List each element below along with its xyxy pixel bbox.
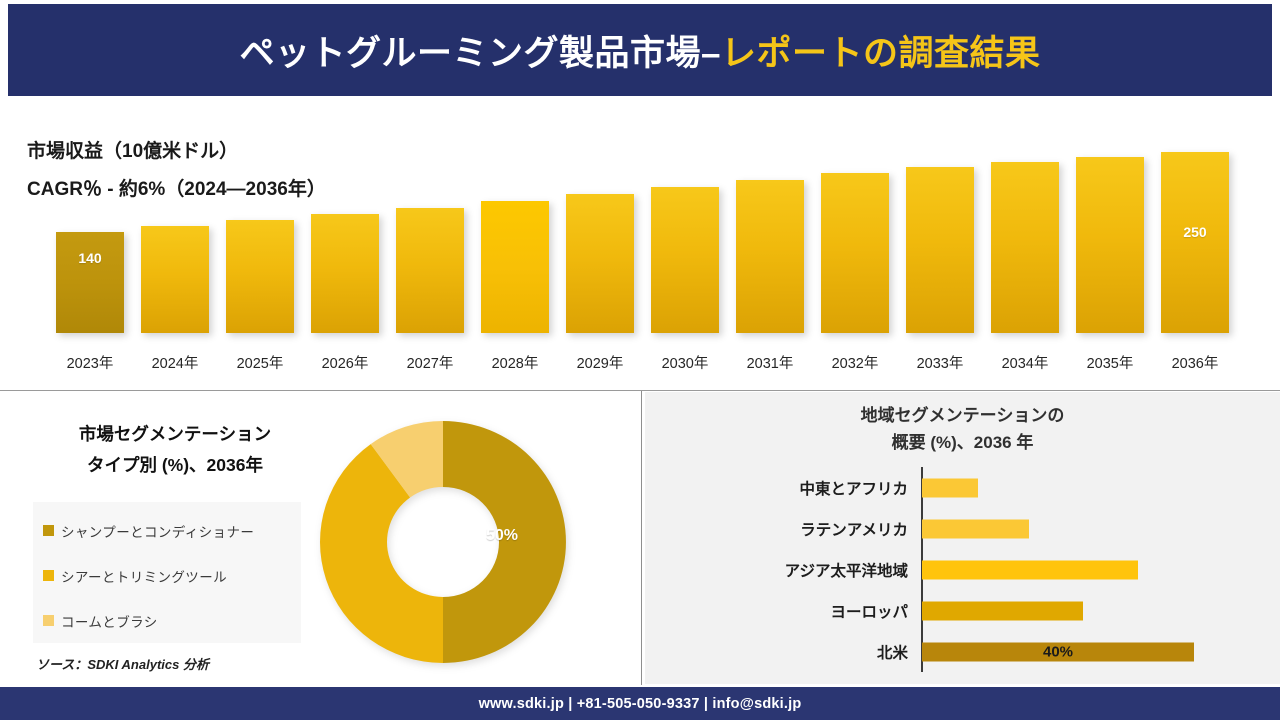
region-row: ラテンアメリカ (645, 508, 1280, 549)
revenue-bar-category-label: 2030年 (643, 352, 727, 373)
segmentation-title-line1: 市場セグメンテーション (79, 424, 271, 444)
segmentation-panel: 市場セグメンテーション タイプ別 (%)、2036年 シャンプーとコンディショナ… (0, 391, 641, 685)
revenue-bar-category-label: 2023年 (48, 352, 132, 373)
revenue-bar-chart: 市場収益（10億米ドル） CAGR％ - 約6%（2024―2036年） 140… (0, 100, 1280, 385)
page-title-accent: レポートの調査結果 (721, 34, 1041, 73)
revenue-bar: 250 (1161, 152, 1229, 333)
revenue-bar (311, 214, 379, 333)
revenue-bar-column: 2024年 (133, 133, 217, 333)
revenue-bar-category-label: 2026年 (303, 352, 387, 373)
revenue-bar (481, 201, 549, 333)
region-bar (922, 560, 1138, 579)
header-banner: ペットグルーミング製品市場–レポートの調査結果 (8, 4, 1272, 96)
region-title-line2: 概要 (%)、2036 年 (892, 433, 1034, 452)
region-bar (922, 601, 1083, 620)
region-bar (922, 519, 1029, 538)
revenue-bar-category-label: 2031年 (728, 352, 812, 373)
segmentation-legend: シャンプーとコンディショナーシアーとトリミングツールコームとブラシ (33, 502, 301, 643)
revenue-bar-column: 2030年 (643, 133, 727, 333)
region-panel: 地域セグメンテーションの 概要 (%)、2036 年 中東とアフリカラテンアメリ… (645, 392, 1280, 684)
revenue-bar-column: 2028年 (473, 133, 557, 333)
region-row: 北米40% (645, 631, 1280, 672)
revenue-bar (1076, 157, 1144, 333)
revenue-bar-column: 2025年 (218, 133, 302, 333)
revenue-bar-value-label: 250 (1161, 224, 1229, 240)
revenue-bar-category-label: 2024年 (133, 352, 217, 373)
revenue-bar-column: 2027年 (388, 133, 472, 333)
segmentation-title-line2: タイプ別 (%)、2036年 (87, 455, 263, 475)
legend-swatch-icon (43, 525, 54, 536)
region-row: ヨーロッパ (645, 590, 1280, 631)
region-bar-chart: 中東とアフリカラテンアメリカアジア太平洋地域ヨーロッパ北米40% (645, 467, 1280, 672)
legend-item-label: シアーとトリミングツール (61, 566, 227, 586)
revenue-bar-category-label: 2035年 (1068, 352, 1152, 373)
source-note: ソース：SDKI Analytics 分析 (36, 654, 209, 673)
revenue-bar-column: 2033年 (898, 133, 982, 333)
donut-chart-wrapper: 50% (318, 419, 568, 665)
revenue-bar (226, 220, 294, 333)
legend-item[interactable]: シアーとトリミングツール (33, 553, 301, 598)
page-title-main: ペットグルーミング製品市場 (240, 34, 702, 73)
revenue-bar-category-label: 2029年 (558, 352, 642, 373)
revenue-bar-category-label: 2033年 (898, 352, 982, 373)
region-row: 中東とアフリカ (645, 467, 1280, 508)
infographic-page: ペットグルーミング製品市場–レポートの調査結果 市場収益（10億米ドル） CAG… (0, 0, 1280, 720)
revenue-bar-category-label: 2034年 (983, 352, 1067, 373)
region-title-line1: 地域セグメンテーションの (861, 406, 1065, 425)
legend-item-label: コームとブラシ (61, 611, 158, 631)
revenue-bar (141, 226, 209, 333)
donut-chart (318, 419, 568, 665)
region-label: アジア太平洋地域 (785, 559, 908, 581)
page-title-dash: – (701, 34, 721, 73)
revenue-bar (736, 180, 804, 333)
region-label: 中東とアフリカ (799, 477, 908, 499)
revenue-bar-column: 2034年 (983, 133, 1067, 333)
revenue-bar (566, 194, 634, 333)
revenue-bar: 140 (56, 232, 124, 333)
page-title: ペットグルーミング製品市場–レポートの調査結果 (240, 25, 1041, 76)
footer-contact: www.sdki.jp | +81-505-050-9337 | info@sd… (479, 696, 802, 712)
revenue-bar (906, 167, 974, 333)
region-label: ヨーロッパ (830, 600, 908, 622)
revenue-bar-category-label: 2032年 (813, 352, 897, 373)
revenue-bar-value-label: 140 (56, 250, 124, 266)
region-bar (922, 478, 978, 497)
region-bar-value-label: 40% (922, 642, 1194, 661)
revenue-bar-column: 2029年 (558, 133, 642, 333)
region-label: 北米 (877, 641, 908, 663)
revenue-bar-category-label: 2025年 (218, 352, 302, 373)
revenue-bar-column: 2031年 (728, 133, 812, 333)
revenue-bars-container: 1402023年2024年2025年2026年2027年2028年2029年20… (48, 100, 1238, 385)
legend-item-label: シャンプーとコンディショナー (61, 521, 254, 541)
revenue-bar (821, 173, 889, 333)
revenue-bar (991, 162, 1059, 333)
donut-value-label: 50% (486, 527, 518, 545)
legend-item[interactable]: シャンプーとコンディショナー (33, 508, 301, 553)
segmentation-title: 市場セグメンテーション タイプ別 (%)、2036年 (30, 419, 320, 481)
region-title: 地域セグメンテーションの 概要 (%)、2036 年 (645, 402, 1280, 456)
legend-swatch-icon (43, 570, 54, 581)
revenue-bar-column: 2026年 (303, 133, 387, 333)
revenue-bar (396, 208, 464, 333)
legend-item[interactable]: コームとブラシ (33, 598, 301, 643)
revenue-bar-column: 2032年 (813, 133, 897, 333)
region-row: アジア太平洋地域 (645, 549, 1280, 590)
revenue-bar-category-label: 2036年 (1153, 352, 1237, 373)
revenue-bar-column: 2035年 (1068, 133, 1152, 333)
revenue-bar (651, 187, 719, 333)
region-label: ラテンアメリカ (800, 518, 908, 540)
revenue-bar-category-label: 2028年 (473, 352, 557, 373)
footer-bar: www.sdki.jp | +81-505-050-9337 | info@sd… (0, 687, 1280, 720)
revenue-bar-category-label: 2027年 (388, 352, 472, 373)
vertical-divider (641, 391, 642, 685)
legend-swatch-icon (43, 615, 54, 626)
revenue-bar-column: 1402023年 (48, 133, 132, 333)
region-bar: 40% (922, 642, 1194, 661)
revenue-bar-column: 2502036年 (1153, 133, 1237, 333)
